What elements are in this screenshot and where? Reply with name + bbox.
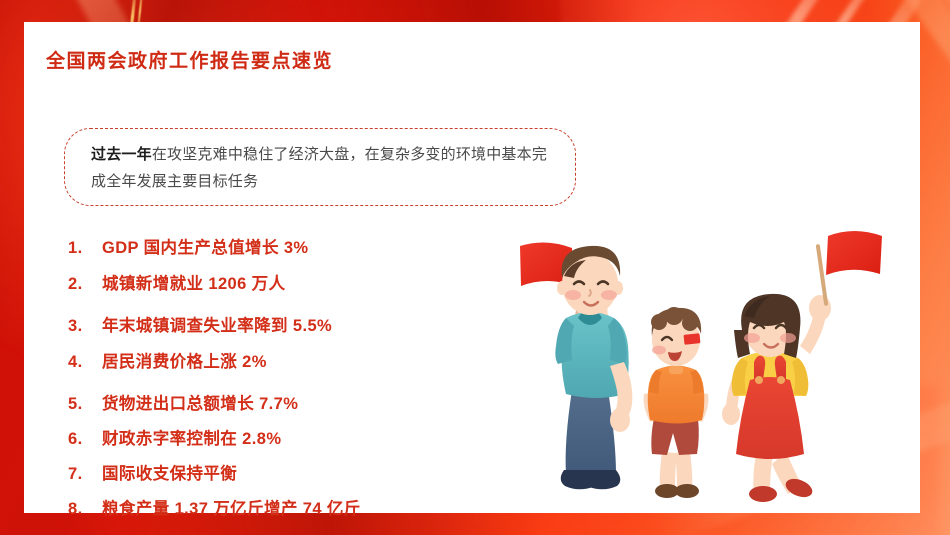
summary-callout-text: 过去一年在攻坚克难中稳住了经济大盘，在复杂多变的环境中基本完成全年发展主要目标任… bbox=[91, 141, 559, 195]
list-item: 8. 粮食产量 1.37 万亿斤增产 74 亿斤 bbox=[68, 495, 498, 519]
list-item: 4. 居民消费价格上涨 2% bbox=[68, 348, 498, 372]
list-item: 1. GDP 国内生产总值增长 3% bbox=[68, 234, 498, 258]
list-item-label: 国际收支保持平衡 bbox=[102, 460, 237, 484]
list-item-label: GDP 国内生产总值增长 3% bbox=[102, 234, 308, 258]
summary-callout-lead: 过去一年 bbox=[91, 146, 152, 163]
list-item: 3. 年末城镇调查失业率降到 5.5% bbox=[68, 312, 498, 336]
highlights-list: 1. GDP 国内生产总值增长 3% 2. 城镇新增就业 1206 万人 3. … bbox=[68, 234, 498, 519]
list-item-number: 5. bbox=[68, 395, 102, 414]
list-item-number: 4. bbox=[68, 353, 102, 372]
list-item-number: 6. bbox=[68, 430, 102, 449]
list-item-number: 3. bbox=[68, 317, 102, 336]
list-item: 6. 财政赤字率控制在 2.8% bbox=[68, 425, 498, 449]
list-item-label: 年末城镇调查失业率降到 5.5% bbox=[102, 312, 332, 336]
list-item-label: 财政赤字率控制在 2.8% bbox=[102, 425, 281, 449]
list-item-number: 8. bbox=[68, 500, 102, 519]
list-item-label: 城镇新增就业 1206 万人 bbox=[102, 270, 285, 294]
father-figure bbox=[520, 242, 632, 489]
slide-root: 全国两会政府工作报告要点速览 过去一年在攻坚克难中稳住了经济大盘，在复杂多变的环… bbox=[0, 0, 950, 535]
list-item-number: 1. bbox=[68, 239, 102, 258]
child-figure bbox=[644, 307, 709, 498]
list-item-label: 居民消费价格上涨 2% bbox=[102, 348, 267, 372]
page-title: 全国两会政府工作报告要点速览 bbox=[46, 46, 333, 73]
family-illustration bbox=[498, 222, 918, 502]
summary-callout: 过去一年在攻坚克难中稳住了经济大盘，在复杂多变的环境中基本完成全年发展主要目标任… bbox=[64, 128, 576, 206]
list-item: 2. 城镇新增就业 1206 万人 bbox=[68, 270, 498, 294]
mother-figure bbox=[722, 231, 882, 502]
list-item-label: 货物进出口总额增长 7.7% bbox=[102, 390, 298, 414]
list-item: 5. 货物进出口总额增长 7.7% bbox=[68, 390, 498, 414]
list-item-number: 7. bbox=[68, 465, 102, 484]
list-item: 7. 国际收支保持平衡 bbox=[68, 460, 498, 484]
summary-callout-body: 在攻坚克难中稳住了经济大盘，在复杂多变的环境中基本完成全年发展主要目标任务 bbox=[91, 146, 547, 190]
list-item-number: 2. bbox=[68, 275, 102, 294]
list-item-label: 粮食产量 1.37 万亿斤增产 74 亿斤 bbox=[102, 495, 361, 519]
